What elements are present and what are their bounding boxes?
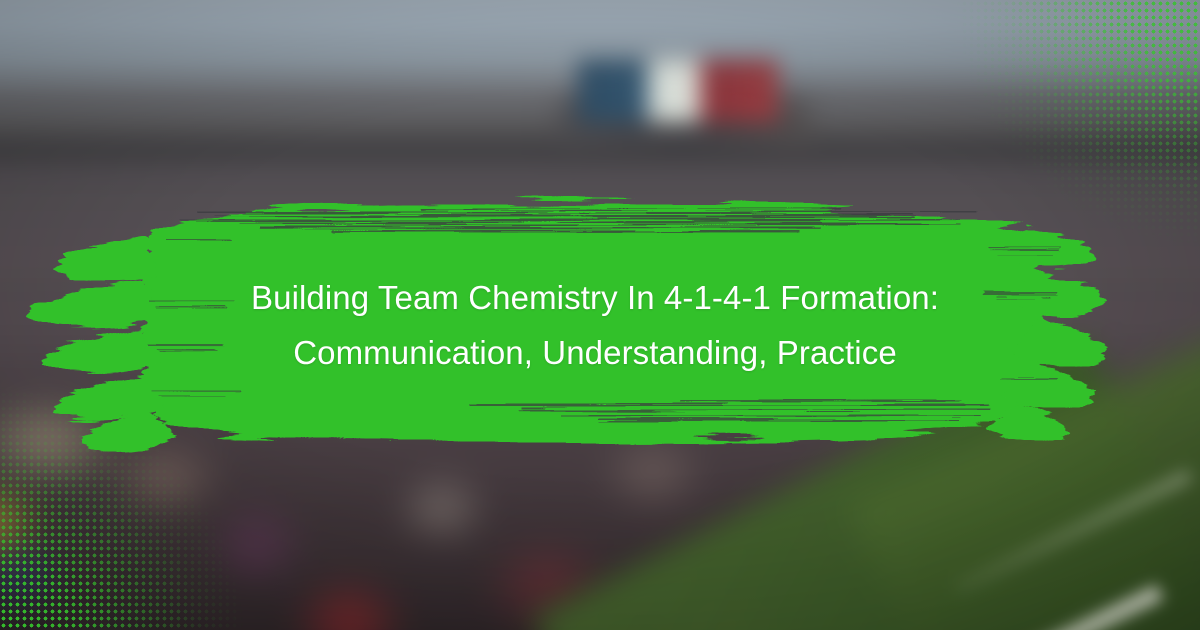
page-title-line-2: Communication, Understanding, Practice — [150, 325, 1040, 380]
page-title: Building Team Chemistry In 4-1-4-1 Forma… — [150, 270, 1040, 380]
page-title-line-1: Building Team Chemistry In 4-1-4-1 Forma… — [150, 270, 1040, 325]
featured-image-canvas: Building Team Chemistry In 4-1-4-1 Forma… — [0, 0, 1200, 630]
